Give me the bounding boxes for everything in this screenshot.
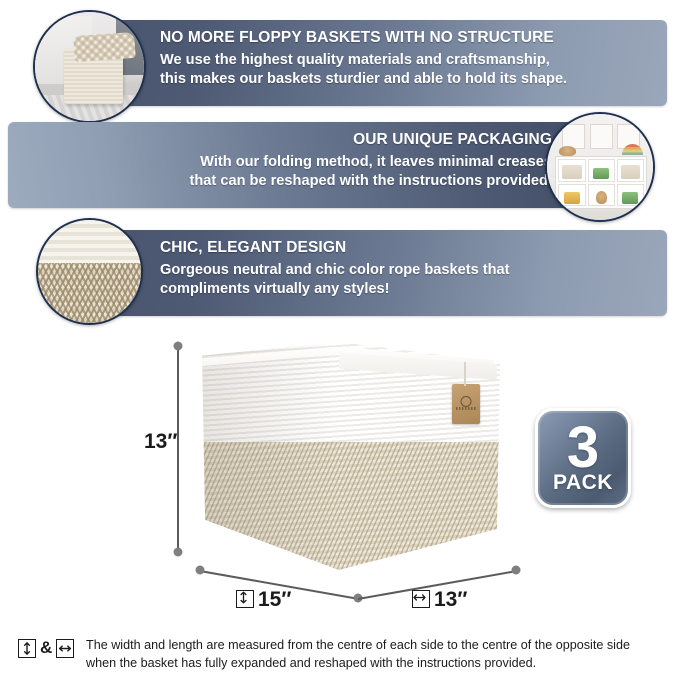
width-dimension-value: 15″ [258,588,291,611]
feature-body-structure-line2: this makes our baskets sturdier and able… [160,70,567,89]
toy-blocks [564,192,580,204]
shelf-cube [588,184,615,207]
horizontal-arrow-icon [412,590,430,608]
basket-with-knit-blanket-photo [33,10,146,123]
feature-text-structure: NO MORE FLOPPY BASKETS WITH NO STRUCTURE… [160,29,567,90]
cotton-rope-storage-basket-photo [196,342,500,570]
basket-shading [196,342,336,570]
depth-dimension-endpoint-right [512,566,521,575]
feature-banner-structure: NO MORE FLOPPY BASKETS WITH NO STRUCTURE… [112,20,667,106]
book-stack [593,168,609,180]
feature-banner-design: CHIC, ELEGANT DESIGN Gorgeous neutral an… [112,230,667,316]
height-dimension-endpoint-bottom [174,548,183,557]
depth-dimension-label-group: 13″ [412,588,467,612]
teddy-bear-toy [559,146,576,157]
pack-count-number: 3 [567,423,599,473]
cube-shelf [555,156,646,209]
brand-logo-icon [461,396,472,407]
ampersand-separator: & [40,638,52,658]
product-dimension-diagram: 13″ 15″ 13″ 3 PACK [0,326,679,626]
feature-packaging: OUR UNIQUE PACKAGING With our folding me… [0,112,679,212]
shelf-cube [617,184,644,207]
pack-count-badge: 3 PACK [535,408,631,508]
feature-body-packaging-line2: that can be reshaped with the instructio… [190,172,552,191]
feature-banner-packaging: OUR UNIQUE PACKAGING With our folding me… [8,122,578,208]
storage-bin [562,165,581,179]
feature-title-structure: NO MORE FLOPPY BASKETS WITH NO STRUCTURE [160,29,567,47]
width-dimension-label-group: 15″ [236,588,291,612]
height-dimension-label: 13″ [144,430,177,454]
horizontal-arrow-icon [56,639,74,658]
feature-text-design: CHIC, ELEGANT DESIGN Gorgeous neutral an… [160,239,510,300]
shelf-cube [588,159,615,182]
feature-title-packaging: OUR UNIQUE PACKAGING [190,131,552,149]
feature-body-design-line2: compliments virtually any styles! [160,280,510,299]
wall-frame [590,124,613,149]
shelf-cube [558,159,585,182]
measurement-note-icons: & [18,638,74,658]
knit-blanket [73,32,136,62]
teddy-bear-toy [596,191,607,204]
hang-tag [452,384,480,424]
nursery-cube-shelf-photo [545,112,655,222]
shelf-cube [617,159,644,182]
measurement-note-line1: The width and length are measured from t… [86,636,666,654]
vertical-arrow-icon [236,590,254,608]
feature-body-packaging-line1: With our folding method, it leaves minim… [190,153,552,172]
feature-text-packaging: OUR UNIQUE PACKAGING With our folding me… [190,131,552,192]
storage-bin [621,165,640,179]
feature-body-design-line1: Gorgeous neutral and chic color rope bas… [160,261,510,280]
measurement-note-text: The width and length are measured from t… [86,636,666,673]
feature-design: CHIC, ELEGANT DESIGN Gorgeous neutral an… [0,214,679,319]
feature-title-design: CHIC, ELEGANT DESIGN [160,239,510,257]
measurement-note-line2: when the basket has fully expanded and r… [86,654,666,672]
height-dimension-endpoint-top [174,342,183,351]
rope-beige-band [38,263,141,323]
shelf-cube [558,184,585,207]
width-dimension-endpoint-left [196,566,205,575]
pack-count-word: PACK [553,472,613,493]
toy-blocks [622,192,638,204]
feature-structure: NO MORE FLOPPY BASKETS WITH NO STRUCTURE… [0,8,679,108]
brand-name [456,407,476,410]
feature-body-structure-line1: We use the highest quality materials and… [160,51,567,70]
depth-dimension-value: 13″ [434,588,467,611]
rope-texture-closeup-photo [36,218,143,325]
vertical-arrow-icon [18,639,36,658]
